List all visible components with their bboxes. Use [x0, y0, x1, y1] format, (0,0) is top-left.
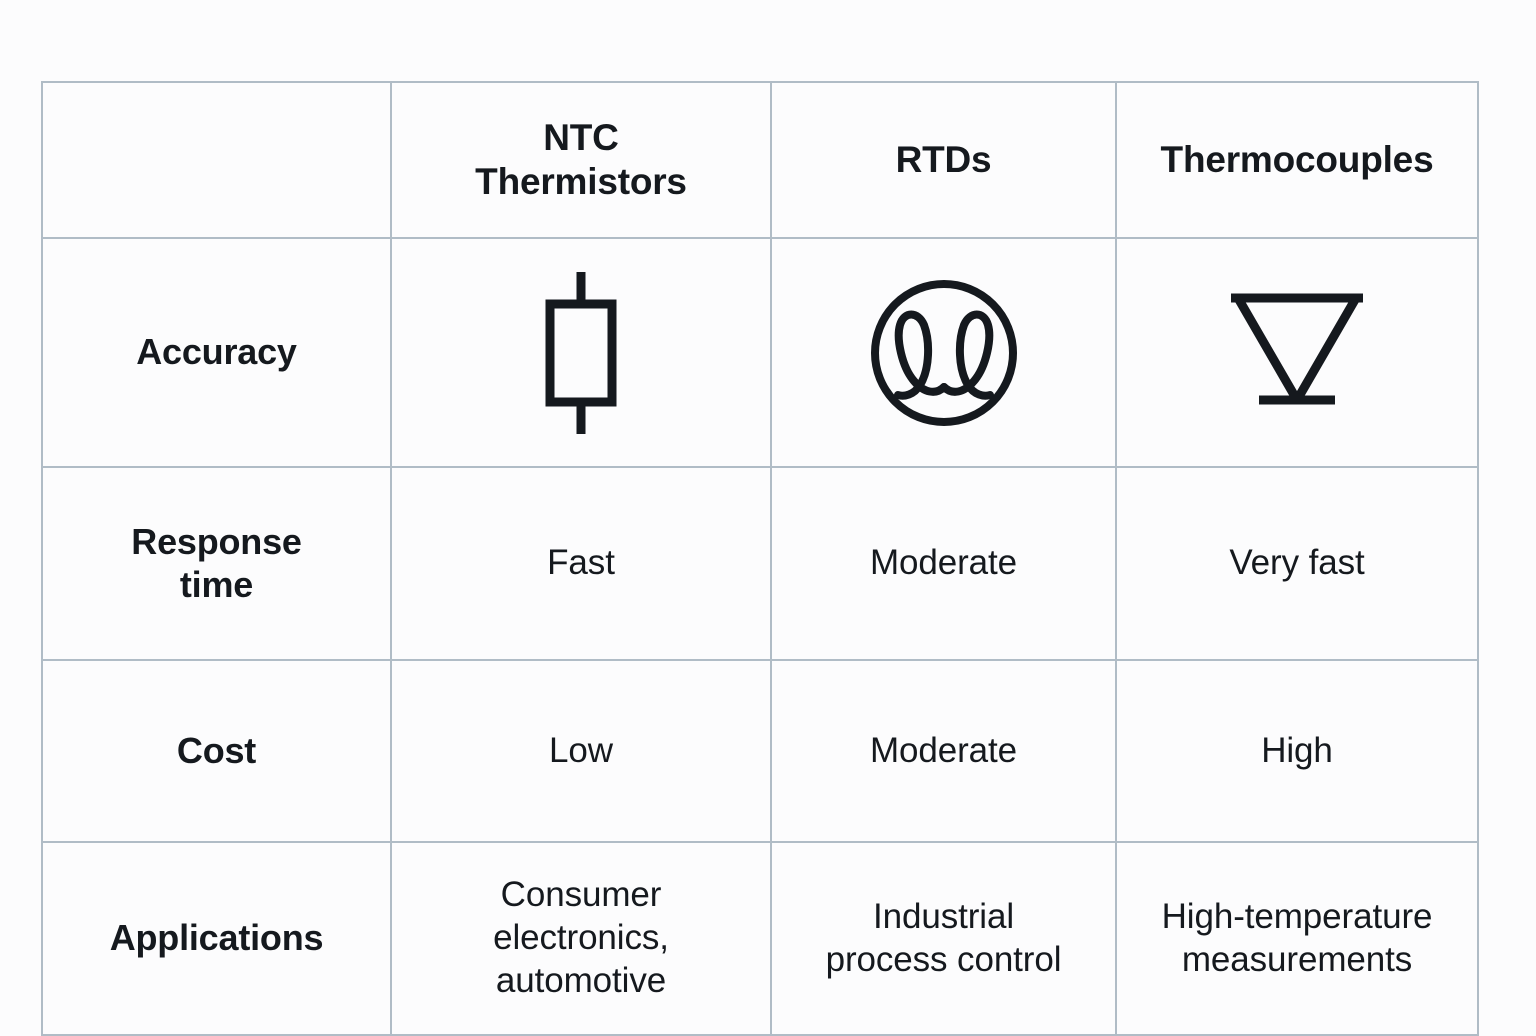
row-label-cost-line-1: Cost	[53, 730, 380, 772]
row-label-response-time: Response time	[42, 467, 391, 660]
cell-applications-thermocouples-line-2: measurements	[1127, 939, 1467, 982]
row-label-accuracy-line-1: Accuracy	[53, 331, 380, 373]
row-label-response-time-line-1: Response	[53, 521, 380, 563]
thermistor-resistor-icon	[521, 268, 641, 438]
cell-applications-ntc-line-3: automotive	[402, 960, 760, 1003]
rtd-coil-circle-icon	[868, 277, 1020, 429]
column-header-rtds: RTDs	[771, 82, 1116, 238]
table-header-row: NTC Thermistors RTDs Thermocouples	[42, 82, 1478, 238]
row-label-response-time-line-2: time	[53, 564, 380, 606]
cell-applications-rtds-line-1: Industrial	[782, 896, 1105, 939]
cell-response-time-rtds: Moderate	[771, 467, 1116, 660]
table-row: Applications Consumer electronics, autom…	[42, 842, 1478, 1035]
cell-response-time-thermocouples: Very fast	[1116, 467, 1478, 660]
cell-cost-thermocouples: High	[1116, 660, 1478, 842]
row-label-cost: Cost	[42, 660, 391, 842]
header-corner-blank-cell	[42, 82, 391, 238]
table-row: Response time Fast Moderate Very fast	[42, 467, 1478, 660]
column-header-thermocouples: Thermocouples	[1116, 82, 1478, 238]
thermocouple-triangle-icon	[1222, 288, 1372, 418]
cell-response-time-rtds-line-1: Moderate	[782, 542, 1105, 585]
column-header-ntc-thermistors-line-2: Thermistors	[402, 160, 760, 204]
cell-cost-rtds: Moderate	[771, 660, 1116, 842]
cell-response-time-ntc-thermistors: Fast	[391, 467, 771, 660]
column-header-rtds-line-1: RTDs	[782, 138, 1105, 182]
cell-response-time-ntc-line-1: Fast	[402, 542, 760, 585]
cell-response-time-thermocouples-line-1: Very fast	[1127, 542, 1467, 585]
cell-applications-rtds: Industrial process control	[771, 842, 1116, 1035]
cell-cost-ntc-thermistors: Low	[391, 660, 771, 842]
table-row: Cost Low Moderate High	[42, 660, 1478, 842]
comparison-table-container: NTC Thermistors RTDs Thermocouples Accur…	[41, 81, 1477, 964]
cell-accuracy-thermocouples	[1116, 238, 1478, 467]
row-label-applications: Applications	[42, 842, 391, 1035]
row-label-applications-line-1: Applications	[53, 917, 380, 959]
cell-accuracy-rtds	[771, 238, 1116, 467]
cell-cost-rtds-line-1: Moderate	[782, 730, 1105, 773]
cell-applications-ntc-line-2: electronics,	[402, 917, 760, 960]
column-header-ntc-thermistors-line-1: NTC	[402, 116, 760, 160]
cell-applications-ntc-thermistors: Consumer electronics, automotive	[391, 842, 771, 1035]
cell-cost-ntc-line-1: Low	[402, 730, 760, 773]
cell-accuracy-ntc-thermistors	[391, 238, 771, 467]
cell-applications-rtds-line-2: process control	[782, 939, 1105, 982]
column-header-ntc-thermistors: NTC Thermistors	[391, 82, 771, 238]
cell-applications-thermocouples-line-1: High-temperature	[1127, 896, 1467, 939]
cell-applications-ntc-line-1: Consumer	[402, 874, 760, 917]
cell-cost-thermocouples-line-1: High	[1127, 730, 1467, 773]
table-row: Accuracy	[42, 238, 1478, 467]
sensor-comparison-table: NTC Thermistors RTDs Thermocouples Accur…	[41, 81, 1479, 1036]
row-label-accuracy: Accuracy	[42, 238, 391, 467]
column-header-thermocouples-line-1: Thermocouples	[1127, 138, 1467, 182]
cell-applications-thermocouples: High-temperature measurements	[1116, 842, 1478, 1035]
